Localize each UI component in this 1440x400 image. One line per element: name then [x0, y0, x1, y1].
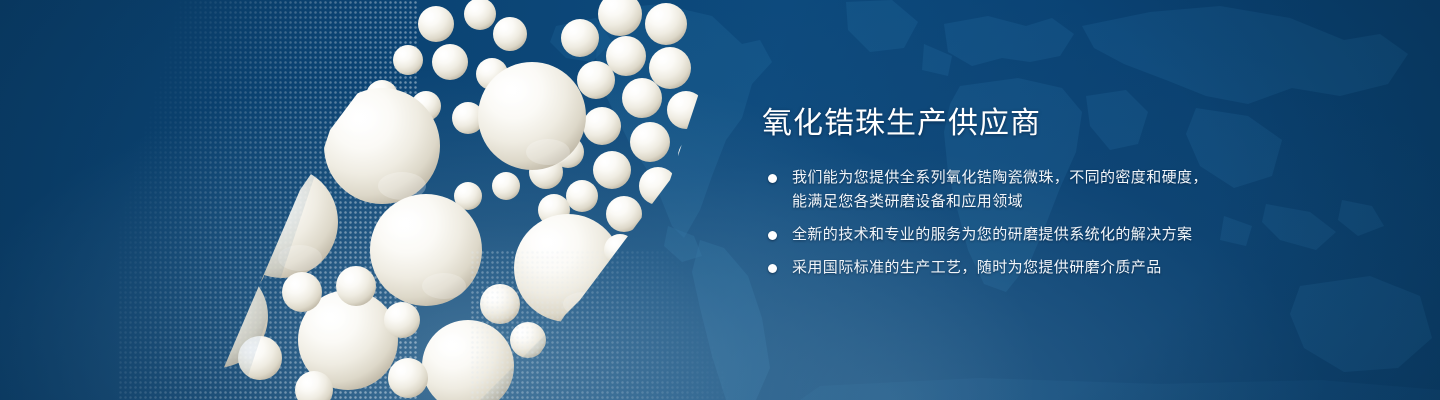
page-title: 氧化锆珠生产供应商	[762, 104, 1382, 144]
list-item: 采用国际标准的生产工艺，随时为您提供研磨介质产品	[762, 256, 1382, 280]
zirconia-beads-photo	[150, 0, 730, 400]
list-item: 全新的技术和专业的服务为您的研磨提供系统化的解决方案	[762, 223, 1382, 247]
list-item-line: 全新的技术和专业的服务为您的研磨提供系统化的解决方案	[792, 223, 1382, 247]
hero-banner: 氧化锆珠生产供应商 我们能为您提供全系列氧化锆陶瓷微珠，不同的密度和硬度， 能满…	[0, 0, 1440, 400]
list-item-line: 能满足您各类研磨设备和应用领域	[792, 190, 1382, 214]
bullet-dot-icon	[768, 231, 777, 240]
list-item-line: 我们能为您提供全系列氧化锆陶瓷微珠，不同的密度和硬度，	[792, 166, 1382, 190]
banner-content: 氧化锆珠生产供应商 我们能为您提供全系列氧化锆陶瓷微珠，不同的密度和硬度， 能满…	[762, 104, 1382, 280]
bullet-dot-icon	[768, 174, 777, 183]
feature-list: 我们能为您提供全系列氧化锆陶瓷微珠，不同的密度和硬度， 能满足您各类研磨设备和应…	[762, 166, 1382, 280]
bullet-dot-icon	[768, 264, 777, 273]
list-item-line: 采用国际标准的生产工艺，随时为您提供研磨介质产品	[792, 256, 1382, 280]
list-item: 我们能为您提供全系列氧化锆陶瓷微珠，不同的密度和硬度， 能满足您各类研磨设备和应…	[762, 166, 1382, 214]
